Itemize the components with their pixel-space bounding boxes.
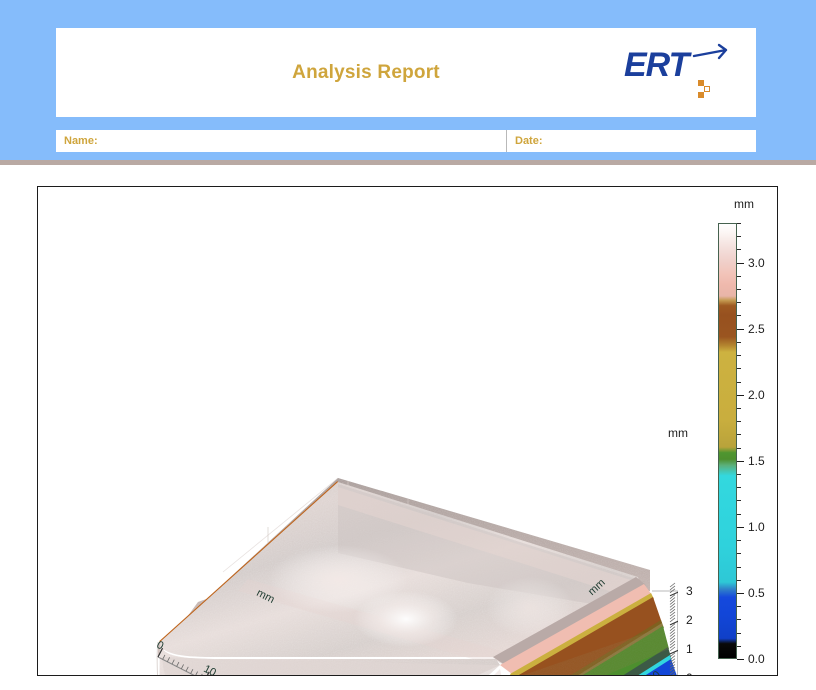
colorbar-tick-label: 0.0 (748, 652, 765, 666)
colorbar-minor-tick (737, 487, 741, 488)
colorbar-tick-label: 3.0 (748, 256, 765, 270)
colorbar-minor-tick (737, 646, 741, 647)
colorbar-tick-label: 2.0 (748, 388, 765, 402)
colorbar-major-tick (737, 329, 744, 330)
header-divider (0, 160, 816, 165)
colorbar-minor-tick (737, 368, 741, 369)
colorbar-minor-tick (737, 434, 741, 435)
axis-ticks-svg (38, 187, 678, 675)
colorbar-minor-tick (737, 302, 741, 303)
z-axis-title: mm (668, 426, 688, 440)
ert-arrow-icon (622, 42, 732, 104)
name-field[interactable]: Name: (56, 130, 506, 152)
colorbar-minor-tick (737, 500, 741, 501)
colorbar-major-tick (737, 659, 744, 660)
z-tick-label: 0 (686, 671, 693, 676)
logo-square-bottom (698, 92, 704, 98)
colorbar-unit-label: mm (734, 197, 754, 211)
date-label: Date: (515, 135, 543, 147)
colorbar-tick-label: 0.5 (748, 586, 765, 600)
colorbar-minor-tick (737, 633, 741, 634)
colorbar-minor-tick (737, 289, 741, 290)
ert-logo: ERT (622, 42, 732, 104)
colorbar[interactable]: mm 0.00.51.01.52.02.53.0 (706, 197, 776, 667)
colorbar-major-tick (737, 527, 744, 528)
colorbar-minor-tick (737, 421, 741, 422)
surface-plot[interactable]: 010203040506070 01020304050 0123 mm mm m… (38, 187, 678, 675)
colorbar-minor-tick (737, 276, 741, 277)
name-label: Name: (64, 135, 98, 147)
plot-frame: 010203040506070 01020304050 0123 mm mm m… (37, 186, 778, 676)
colorbar-minor-tick (737, 448, 741, 449)
colorbar-minor-tick (737, 606, 741, 607)
colorbar-minor-tick (737, 619, 741, 620)
colorbar-minor-tick (737, 355, 741, 356)
page-title: Analysis Report (56, 28, 676, 117)
logo-square-mid (704, 86, 710, 92)
z-tick-label: 2 (686, 613, 693, 627)
colorbar-major-tick (737, 593, 744, 594)
colorbar-minor-tick (737, 382, 741, 383)
colorbar-tick-label: 2.5 (748, 322, 765, 336)
z-tick-label: 1 (686, 642, 693, 656)
colorbar-minor-tick (737, 315, 741, 316)
meta-row: Name: Date: (56, 130, 756, 152)
colorbar-minor-tick (737, 223, 741, 224)
title-card: Analysis Report ERT (56, 28, 756, 117)
z-axis-ticks (670, 583, 678, 675)
colorbar-major-tick (737, 263, 744, 264)
colorbar-gradient[interactable] (718, 223, 737, 659)
colorbar-minor-tick (737, 342, 741, 343)
colorbar-minor-tick (737, 553, 741, 554)
colorbar-minor-tick (737, 408, 741, 409)
date-field[interactable]: Date: (506, 130, 756, 152)
colorbar-minor-tick (737, 249, 741, 250)
colorbar-tick-label: 1.0 (748, 520, 765, 534)
colorbar-minor-tick (737, 540, 741, 541)
colorbar-major-tick (737, 395, 744, 396)
colorbar-minor-tick (737, 514, 741, 515)
colorbar-minor-tick (737, 567, 741, 568)
colorbar-major-tick (737, 461, 744, 462)
colorbar-minor-tick (737, 580, 741, 581)
colorbar-minor-tick (737, 474, 741, 475)
colorbar-tick-label: 1.5 (748, 454, 765, 468)
z-tick-label: 3 (686, 584, 693, 598)
colorbar-minor-tick (737, 236, 741, 237)
